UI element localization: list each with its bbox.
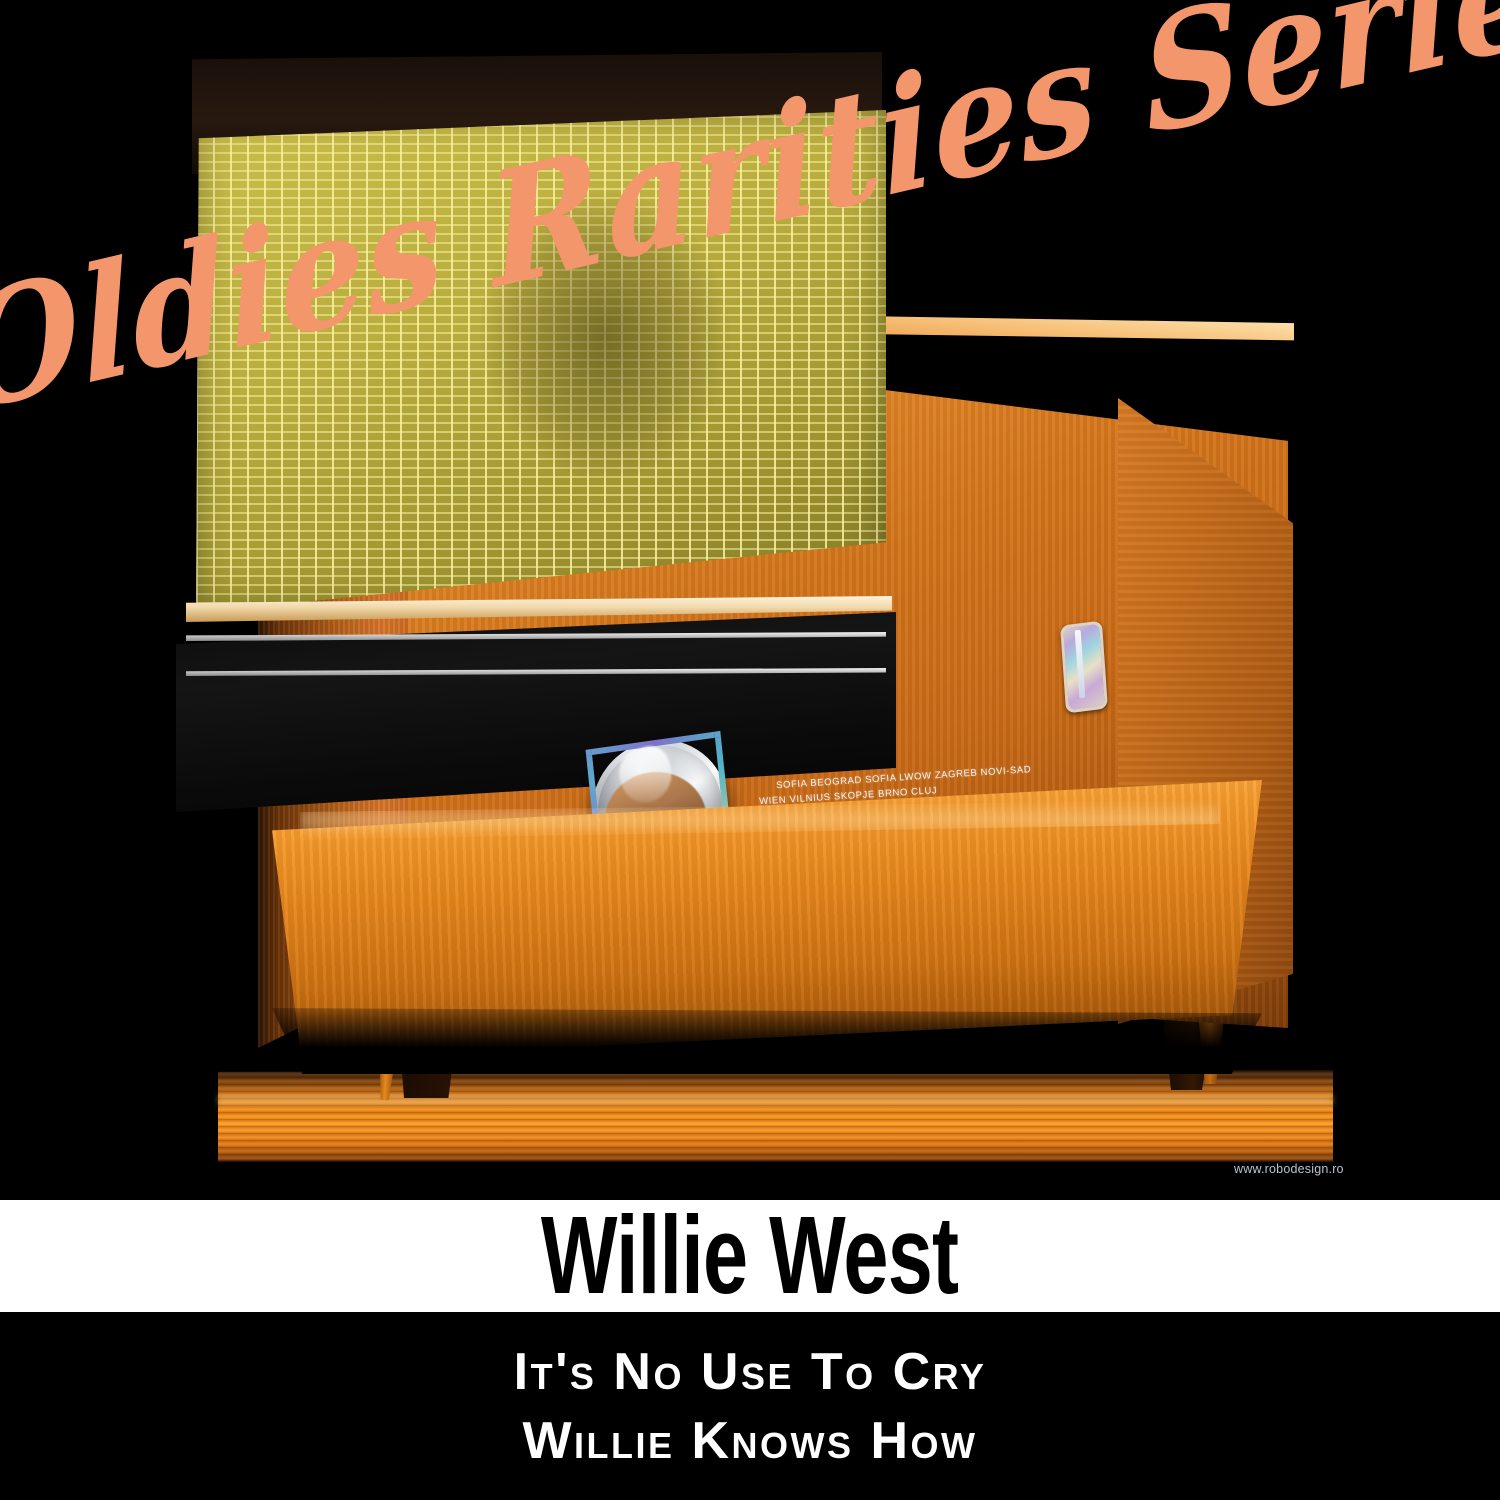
track-list: It's No Use To Cry Willie Knows How xyxy=(0,1318,1500,1500)
speaker-grille xyxy=(196,108,886,613)
cover-artwork-photo: SOFIA BEOGRAD SOFIA LWOW ZAGREB NOVI-SAD… xyxy=(0,0,1500,1200)
photo-watermark: www.robodesign.ro xyxy=(1234,1162,1344,1176)
album-cover: SOFIA BEOGRAD SOFIA LWOW ZAGREB NOVI-SAD… xyxy=(0,0,1500,1500)
artist-name: Willie West xyxy=(541,1201,958,1311)
cabinet-underside-shadow xyxy=(262,1008,1272,1074)
artist-name-band: Willie West xyxy=(0,1200,1500,1312)
tuning-indicator-window-icon xyxy=(1060,621,1108,714)
track-title: It's No Use To Cry xyxy=(514,1338,987,1407)
track-title: Willie Knows How xyxy=(522,1407,977,1476)
